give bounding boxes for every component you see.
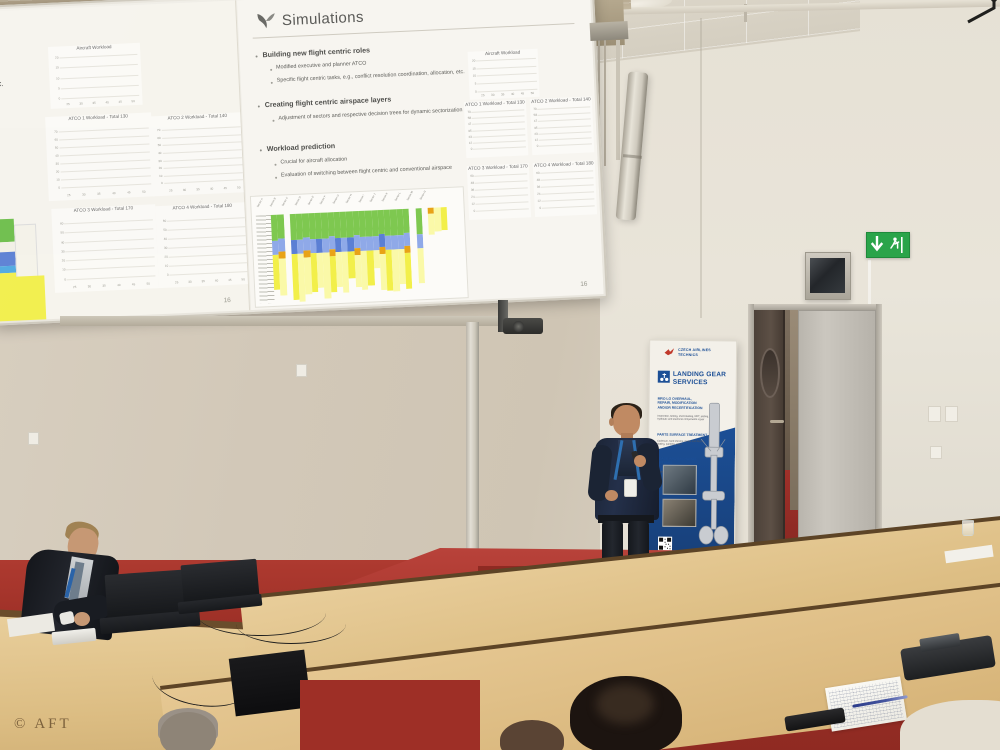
x-tick-label: 50 xyxy=(241,277,245,281)
bullet-3-sub-1: Crucial for aircraft allocation xyxy=(280,157,347,166)
presenter-ear xyxy=(609,418,614,426)
x-tick-label: 30 xyxy=(183,188,187,192)
bird-logo-icon xyxy=(664,348,675,357)
axis-tick-label: 0 xyxy=(467,90,477,94)
chart-atco3: ATCO 3 Workload - Total 170 605040302010… xyxy=(51,204,159,293)
chart-title: ATCO 1 Workload - Total 130 xyxy=(464,99,526,107)
bullet-marker xyxy=(275,177,277,179)
chart-plot: 7058473523120 xyxy=(472,109,526,148)
x-tick-label: 25 xyxy=(66,102,70,106)
presenter-right-hand xyxy=(634,455,646,467)
chart-title: ATCO 2 Workload - Total 140 xyxy=(530,96,592,104)
chart-plot: 60483624120 xyxy=(475,173,529,211)
presenter-head xyxy=(613,405,640,436)
slide-title: Simulations xyxy=(282,9,365,30)
door-window xyxy=(760,348,780,398)
chart-x-labels: 253035404550 xyxy=(67,281,156,289)
x-tick-label: 35 xyxy=(196,187,200,191)
x-tick-label: 40 xyxy=(117,283,121,287)
x-tick-label: 50 xyxy=(131,99,135,103)
chart-plot: 706050403020100 xyxy=(161,127,245,183)
axis-tick-label: 60 xyxy=(151,136,161,140)
axis-tick-label: 50 xyxy=(48,146,58,150)
chart-title: ATCO 3 Workload - Total 170 xyxy=(467,163,529,171)
x-tick-label: 35 xyxy=(201,279,205,283)
axis-tick-label: 60 xyxy=(48,138,58,142)
bullet-marker xyxy=(258,105,260,107)
chart-title: ATCO 4 Workload - Total 180 xyxy=(533,160,595,168)
x-tick-label: 45 xyxy=(127,190,131,194)
axis-tick-label: 0 xyxy=(50,185,60,189)
running-man-exit-icon xyxy=(889,236,907,254)
axis-tick-label: 20 xyxy=(48,56,58,60)
bullet-marker xyxy=(260,149,262,151)
axis-tick-label: 40 xyxy=(54,240,64,244)
chart-title: ATCO 2 Workload - Total 140 xyxy=(149,112,245,121)
bullet-marker xyxy=(274,164,276,166)
chart-atco1: ATCO 1 Workload - Total 130 706050403020… xyxy=(45,112,155,201)
axis-tick-label: 47 xyxy=(527,119,537,123)
axis-tick-label: 20 xyxy=(465,58,475,62)
chart-atco4: ATCO 4 Workload - Total 180 605040302010… xyxy=(155,202,250,288)
axis-tick-label: 30 xyxy=(55,249,65,253)
x-tick-label: 40 xyxy=(105,100,109,104)
x-tick-label: 25 xyxy=(481,93,485,97)
x-tick-label: 45 xyxy=(118,99,122,103)
axis-tick-label: 0 xyxy=(50,97,60,101)
slide-previous: ion, etc. zation ce Aircraft Workload 20… xyxy=(0,0,250,321)
axis-tick-label: 20 xyxy=(152,166,162,170)
lecture-hall-photo: ion, etc. zation ce Aircraft Workload 20… xyxy=(0,0,1000,750)
bullet-2-sub-1: Adjustment of sectors and respective dec… xyxy=(278,107,462,121)
bullet-marker xyxy=(270,69,272,71)
x-tick-label: 25 xyxy=(169,188,173,192)
x-tick-label: 40 xyxy=(112,191,116,195)
ceiling-mount-bracket xyxy=(960,0,1000,34)
bullet-3-sub-2: Evaluation of switching between flight c… xyxy=(281,165,452,179)
axis-tick-label: 0 xyxy=(159,273,169,277)
x-tick-label: 40 xyxy=(210,186,214,190)
projection-screen: ion, etc. zation ce Aircraft Workload 20… xyxy=(0,0,608,326)
axis-tick-label: 40 xyxy=(151,151,161,155)
x-tick-label: 35 xyxy=(92,100,96,104)
axis-tick-label: 10 xyxy=(152,174,162,178)
speaker-bracket xyxy=(590,21,629,41)
landing-gear-icon xyxy=(658,371,670,383)
wall-panel-display[interactable] xyxy=(810,258,845,293)
bar-group xyxy=(59,54,139,98)
x-tick-label: 45 xyxy=(228,278,232,282)
chart-x-labels: 253035404550 xyxy=(61,98,139,106)
chart-title: ATCO 3 Workload - Total 170 xyxy=(51,204,155,214)
presentation-logo-icon xyxy=(254,9,277,32)
x-tick-label: 45 xyxy=(132,282,136,286)
axis-tick-label: 40 xyxy=(48,153,58,157)
x-tick-label: 30 xyxy=(88,284,92,288)
speaker-pipe xyxy=(616,40,620,160)
axis-tick-label: 20 xyxy=(55,258,65,262)
axis-tick-label: 15 xyxy=(466,66,476,70)
presenter-left-hand xyxy=(605,490,618,501)
audience-head-left xyxy=(160,712,216,750)
screen-bottom-bar xyxy=(60,316,510,326)
bar-group xyxy=(476,57,537,91)
banner-headline: LANDING GEAR SERVICES xyxy=(673,371,726,387)
chart-title: Aircraft Workload xyxy=(48,43,140,52)
axis-tick-label: 24 xyxy=(465,195,475,199)
headline-line-1: LANDING GEAR xyxy=(673,371,726,379)
chart-plot: 20151050 xyxy=(476,57,537,91)
wall-socket-mid[interactable] xyxy=(296,364,307,377)
chart-plot: 20151050 xyxy=(59,54,139,98)
axis-tick-label: 36 xyxy=(530,185,540,189)
axis-tick-label: 35 xyxy=(527,125,537,129)
axis-tick-label: 48 xyxy=(464,181,474,185)
bullet-marker xyxy=(256,55,258,57)
bullet-1-sub-2: Specific flight centric tasks, e.g., con… xyxy=(277,69,465,84)
bar-group xyxy=(167,217,249,275)
axis-tick-label: 23 xyxy=(462,135,472,139)
light-switch-2[interactable] xyxy=(945,406,958,422)
timeline-segment xyxy=(440,207,447,230)
axis-tick-label: 30 xyxy=(152,158,162,162)
bullet-3-heading: Workload prediction xyxy=(267,142,336,153)
axis-tick-label: 0 xyxy=(528,144,538,148)
axis-tick-label: 23 xyxy=(528,132,538,136)
axis-tick-label: 12 xyxy=(531,199,541,203)
bar-group xyxy=(538,106,592,145)
axis-tick-label: 5 xyxy=(50,86,60,90)
axis-tick-label: 50 xyxy=(54,231,64,235)
axis-tick-label: 58 xyxy=(461,116,471,120)
chart-atco1-r: ATCO 1 Workload - Total 130 705847352312… xyxy=(464,99,528,158)
blind-cord[interactable] xyxy=(604,36,606,166)
x-tick-label: 35 xyxy=(97,191,101,195)
axis-tick-label: 20 xyxy=(158,255,168,259)
axis-tick-label: 10 xyxy=(55,268,65,272)
technician-hand xyxy=(74,612,90,626)
x-tick-label: 50 xyxy=(531,91,535,95)
emergency-exit-sign xyxy=(866,232,910,258)
x-tick-label: 30 xyxy=(82,192,86,196)
axis-tick-label: 60 xyxy=(53,222,63,226)
bullet-2-heading: Creating flight centric airspace layers xyxy=(265,95,392,109)
bar-group xyxy=(59,128,152,187)
axis-tick-label: 35 xyxy=(462,128,472,132)
water-glass[interactable] xyxy=(962,520,974,536)
chart-plot: 6050403020100 xyxy=(167,217,249,275)
axis-tick-label: 12 xyxy=(462,141,472,145)
axis-tick-label: 70 xyxy=(461,110,471,114)
axis-tick-label: 70 xyxy=(47,130,57,134)
axis-tick-label: 12 xyxy=(528,138,538,142)
axis-tick-label: 0 xyxy=(465,209,475,213)
bullet-marker xyxy=(271,82,273,84)
brand-name: CZECH AIRLINES TECHNICS xyxy=(678,348,711,357)
brand-line-2: TECHNICS xyxy=(678,352,711,357)
axis-tick-label: 0 xyxy=(153,181,163,185)
chart-title: Aircraft Workload xyxy=(468,49,538,57)
door-frame-top xyxy=(748,304,882,310)
axis-tick-label: 60 xyxy=(156,219,166,223)
landing-gear-illustration xyxy=(692,399,734,549)
axis-tick-label: 70 xyxy=(527,107,537,111)
chart-plot: 6050403020100 xyxy=(64,219,155,278)
slide-current-simulations: Simulations Building new flight centric … xyxy=(237,0,604,312)
screen-surface: ion, etc. zation ce Aircraft Workload 20… xyxy=(0,0,604,321)
bullet-1-heading: Building new flight centric roles xyxy=(262,46,370,59)
chart-atco3-r: ATCO 3 Workload - Total 170 60483624120 xyxy=(467,163,531,220)
wall-seam xyxy=(700,18,702,318)
bullet-1-sub-1: Modified executive and planner ATCO xyxy=(276,61,367,71)
axis-tick-label: 30 xyxy=(157,246,167,250)
chart-x-labels: 253035404550 xyxy=(61,189,151,197)
axis-tick-label: 60 xyxy=(464,174,474,178)
bar-group xyxy=(541,170,595,208)
x-tick-label: 30 xyxy=(491,93,495,97)
axis-tick-label: 47 xyxy=(461,122,471,126)
chart-atco4-r: ATCO 4 Workload - Total 180 60483624120 xyxy=(533,160,597,217)
slide-left-tick-labels: Aircraft xyxy=(0,206,40,223)
stage-edge-dark xyxy=(300,680,480,750)
projector-lens-icon xyxy=(513,321,524,332)
chart-title: ATCO 1 Workload - Total 130 xyxy=(45,112,151,122)
axis-tick-label: 60 xyxy=(529,171,539,175)
chart-workload-timeline: Sector ASector BSector CSector DSector E… xyxy=(250,186,469,308)
wall-socket-left[interactable] xyxy=(28,432,39,445)
chart-plot: 706050403020100 xyxy=(59,128,152,187)
chart-x-labels: 253035404550 xyxy=(164,185,246,193)
cable-2 xyxy=(236,604,346,644)
x-tick-label: 30 xyxy=(79,101,83,105)
axis-tick-label: 10 xyxy=(158,264,168,268)
wall-outlet[interactable] xyxy=(930,446,942,459)
x-tick-label: 50 xyxy=(237,185,241,189)
slide-number-right: 16 xyxy=(580,281,588,288)
slide-number-left: 16 xyxy=(223,297,231,304)
axis-tick-label: 48 xyxy=(530,178,540,182)
axis-tick-label: 40 xyxy=(157,237,167,241)
timeline-stacked-columns xyxy=(271,207,451,303)
bar-group xyxy=(64,219,155,278)
chart-aircraft-workload: Aircraft Workload 20151050 253035404550 xyxy=(48,43,143,109)
x-tick-label: 25 xyxy=(73,285,77,289)
czech-airlines-technics-logo: CZECH AIRLINES TECHNICS xyxy=(664,348,711,357)
chart-atco2: ATCO 2 Workload - Total 140 706050403020… xyxy=(149,112,249,196)
axis-tick-label: 58 xyxy=(527,113,537,117)
door-handle[interactable] xyxy=(770,420,784,423)
axis-tick-label: 10 xyxy=(50,177,60,181)
bullet-marker xyxy=(272,120,274,122)
x-tick-label: 45 xyxy=(223,186,227,190)
copyright-watermark: © AFT xyxy=(14,716,72,733)
door-frame-left xyxy=(748,304,754,576)
audience-hair-highlight xyxy=(596,684,654,724)
axis-tick-label: 0 xyxy=(462,147,472,151)
axis-tick-label: 12 xyxy=(465,202,475,206)
x-tick-label: 35 xyxy=(501,92,505,96)
down-arrow-icon xyxy=(870,236,884,254)
bar-group xyxy=(472,109,526,148)
slide-left-block-3 xyxy=(0,275,46,321)
chart-plot: 60483624120 xyxy=(541,170,595,208)
axis-tick-label: 70 xyxy=(150,128,160,132)
chart-aircraft-workload-r: Aircraft Workload 20151050 253035404550 xyxy=(468,49,540,100)
x-tick-label: 40 xyxy=(215,278,219,282)
x-tick-label: 50 xyxy=(142,189,146,193)
headline-line-2: SERVICES xyxy=(673,379,726,387)
axis-tick-label: 10 xyxy=(466,74,476,78)
x-tick-label: 40 xyxy=(511,92,515,96)
conference-badge xyxy=(624,479,637,497)
axis-tick-label: 24 xyxy=(530,192,540,196)
x-tick-label: 25 xyxy=(175,280,179,284)
x-tick-label: 45 xyxy=(521,92,525,96)
x-tick-label: 35 xyxy=(102,283,106,287)
chart-title: ATCO 4 Workload - Total 180 xyxy=(155,202,249,211)
monitor-rear xyxy=(229,650,312,717)
x-tick-label: 50 xyxy=(146,281,150,285)
x-tick-label: 25 xyxy=(67,193,71,197)
chart-plot: 7058473523120 xyxy=(538,106,592,145)
bar-group xyxy=(475,173,529,211)
axis-tick-label: 0 xyxy=(56,277,66,281)
chart-x-labels: 253035404550 xyxy=(170,277,250,285)
timeline-column-label: Sector N xyxy=(420,188,441,207)
axis-tick-label: 0 xyxy=(531,206,541,210)
axis-tick-label: 10 xyxy=(49,76,59,80)
axis-tick-label: 36 xyxy=(464,188,474,192)
axis-tick-label: 30 xyxy=(49,161,59,165)
axis-tick-label: 5 xyxy=(466,82,476,86)
axis-tick-label: 15 xyxy=(49,66,59,70)
chart-atco2-r: ATCO 2 Workload - Total 140 705847352312… xyxy=(530,96,594,155)
axis-tick-label: 20 xyxy=(49,169,59,173)
axis-tick-label: 50 xyxy=(157,228,167,232)
x-tick-label: 30 xyxy=(188,279,192,283)
light-switch-1[interactable] xyxy=(928,406,941,422)
axis-tick-label: 50 xyxy=(151,143,161,147)
bar-group xyxy=(161,127,245,183)
slide-left-text-1: ion, etc. xyxy=(0,79,4,89)
